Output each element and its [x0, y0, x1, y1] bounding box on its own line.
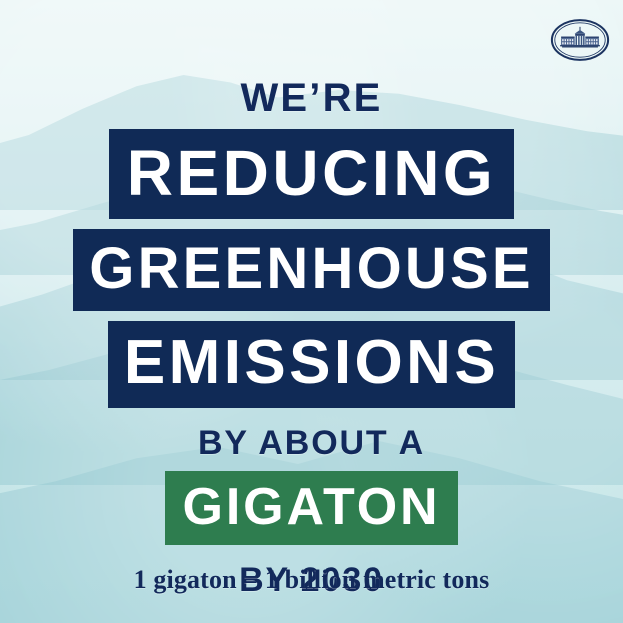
headline-line-reducing: REDUCING	[109, 129, 515, 219]
headline-line-emissions: EMISSIONS	[108, 321, 515, 408]
headline-stack: WE’RE REDUCING GREENHOUSE EMISSIONS BY A…	[0, 78, 623, 597]
headline-line-greenhouse: GREENHOUSE	[73, 229, 549, 311]
headline-line-were: WE’RE	[236, 78, 386, 118]
footnote-definition: 1 gigaton = 1 billion metric tons	[0, 565, 623, 595]
headline-line-by-about-a: BY ABOUT A	[194, 426, 429, 460]
white-house-seal-icon	[549, 9, 611, 71]
headline-line-gigaton: GIGATON	[165, 471, 459, 545]
poster-canvas: WE’RE REDUCING GREENHOUSE EMISSIONS BY A…	[0, 0, 623, 623]
